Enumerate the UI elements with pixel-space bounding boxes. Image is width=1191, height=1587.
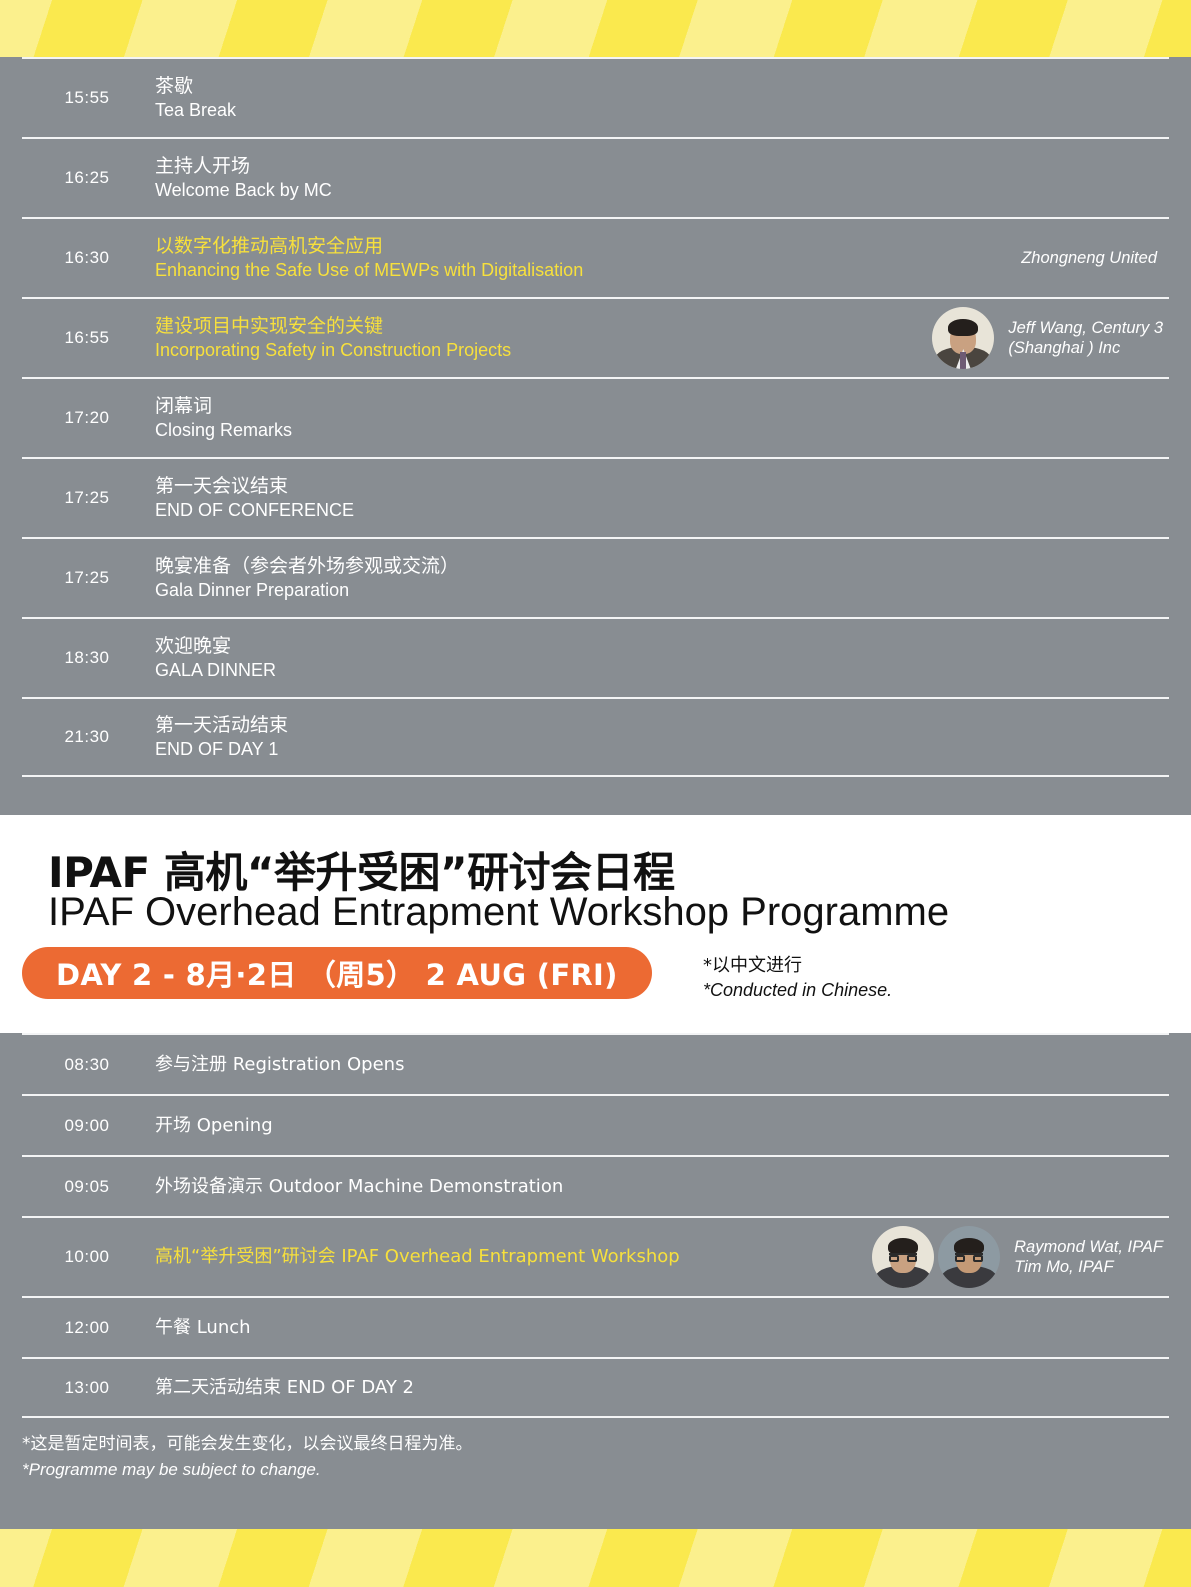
day-badge: DAY 2 - 8月·2日 （周5） 2 AUG (FRI) [22,947,652,999]
row-title: 第一天活动结束 END OF DAY 1 [152,713,1169,761]
avatar-tie [960,352,966,369]
row-time: 17:25 [22,568,152,588]
row-time: 16:25 [22,168,152,188]
row-title-cn: 主持人开场 [155,154,1169,178]
avatar [872,1226,934,1288]
row-title-cn: 建设项目中实现安全的关键 [155,314,932,338]
speaker-block: Zhongneng United [1021,249,1163,268]
language-note-cn: *以中文进行 [703,953,892,978]
row-title: 第二天活动结束 END OF DAY 2 [152,1376,1169,1400]
speaker-name-line: Raymond Wat, IPAF [1014,1237,1163,1257]
table-row: 08:30 参与注册 Registration Opens [22,1033,1169,1094]
row-time: 17:25 [22,488,152,508]
row-title: 闭幕词 Closing Remarks [152,394,1169,442]
row-title-cn: 第一天会议结束 [155,474,1169,498]
row-title-en: Enhancing the Safe Use of MEWPs with Dig… [155,258,1021,282]
table-row: 16:25 主持人开场 Welcome Back by MC [22,137,1169,217]
table-row: 09:05 外场设备演示 Outdoor Machine Demonstrati… [22,1155,1169,1216]
speaker-names: Raymond Wat, IPAF Tim Mo, IPAF [1014,1237,1163,1277]
row-title: 晚宴准备（参会者外场参观或交流） Gala Dinner Preparation [152,554,1169,602]
row-title-en: Closing Remarks [155,418,1169,442]
row-title-text: 外场设备演示 Outdoor Machine Demonstration [155,1175,1169,1199]
row-title-text: 参与注册 Registration Opens [155,1053,1169,1077]
row-title: 以数字化推动高机安全应用 Enhancing the Safe Use of M… [152,234,1021,282]
diagonal-stripes-decoration [0,0,1191,57]
table-row: 12:00 午餐 Lunch [22,1296,1169,1357]
day1-schedule-section: 15:55 茶歇 Tea Break 16:25 主持人开场 Welcome B… [0,57,1191,815]
page-title-en: IPAF Overhead Entrapment Workshop Progra… [48,890,949,935]
speaker-block: Jeff Wang, Century 3 (Shanghai ) Inc [932,307,1163,369]
row-title-en: Tea Break [155,98,1169,122]
speaker-organisation: Zhongneng United [1021,249,1157,268]
row-title-text: 午餐 Lunch [155,1316,1169,1340]
row-title-text: 高机“举升受困”研讨会 IPAF Overhead Entrapment Wor… [155,1245,872,1269]
row-time: 21:30 [22,727,152,747]
row-time: 09:05 [22,1177,152,1197]
row-title-cn: 欢迎晚宴 [155,634,1169,658]
day2-schedule-section: 08:30 参与注册 Registration Opens 09:00 开场 O… [0,1033,1191,1529]
row-title-en: Incorporating Safety in Construction Pro… [155,338,932,362]
diagonal-stripes-decoration [0,1529,1191,1587]
row-time: 10:00 [22,1247,152,1267]
speaker-photos [872,1226,1000,1288]
avatar [932,307,994,369]
row-time: 16:30 [22,248,152,268]
row-title-cn: 第一天活动结束 [155,713,1169,737]
row-title: 参与注册 Registration Opens [152,1053,1169,1077]
speaker-name-line: Tim Mo, IPAF [1014,1257,1163,1277]
row-title-cn: 茶歇 [155,74,1169,98]
programme-title-block: IPAF 高机“举升受困”研讨会日程 IPAF Overhead Entrapm… [0,815,1191,1033]
language-note-en: *Conducted in Chinese. [703,978,892,1003]
table-row: 15:55 茶歇 Tea Break [22,57,1169,137]
day1-rows: 15:55 茶歇 Tea Break 16:25 主持人开场 Welcome B… [0,57,1191,777]
row-title: 主持人开场 Welcome Back by MC [152,154,1169,202]
row-title: 第一天会议结束 END OF CONFERENCE [152,474,1169,522]
row-title-cn: 晚宴准备（参会者外场参观或交流） [155,554,1169,578]
row-title-text: 第二天活动结束 END OF DAY 2 [155,1376,1169,1400]
row-time: 18:30 [22,648,152,668]
row-time: 16:55 [22,328,152,348]
language-note: *以中文进行 *Conducted in Chinese. [703,953,892,1003]
speaker-name-line: Jeff Wang, Century 3 [1008,318,1163,338]
top-stripe-banner [0,0,1191,57]
row-time: 17:20 [22,408,152,428]
row-title: 建设项目中实现安全的关键 Incorporating Safety in Con… [152,314,932,362]
bottom-stripe-banner [0,1529,1191,1587]
row-time: 09:00 [22,1116,152,1136]
row-time: 15:55 [22,88,152,108]
table-row: 17:20 闭幕词 Closing Remarks [22,377,1169,457]
table-row: 17:25 第一天会议结束 END OF CONFERENCE [22,457,1169,537]
footnote-en: *Programme may be subject to change. [22,1457,1169,1482]
table-row: 13:00 第二天活动结束 END OF DAY 2 [22,1357,1169,1418]
row-title: 外场设备演示 Outdoor Machine Demonstration [152,1175,1169,1199]
speaker-name-line: (Shanghai ) Inc [1008,338,1163,358]
row-title-en: END OF DAY 1 [155,737,1169,761]
glasses-icon [955,1253,983,1262]
row-title-en: Gala Dinner Preparation [155,578,1169,602]
avatar-hair [948,319,978,336]
glasses-icon [889,1253,917,1262]
table-row: 18:30 欢迎晚宴 GALA DINNER [22,617,1169,697]
row-title-en: Welcome Back by MC [155,178,1169,202]
speaker-block: Raymond Wat, IPAF Tim Mo, IPAF [872,1226,1163,1288]
table-row: 16:55 建设项目中实现安全的关键 Incorporating Safety … [22,297,1169,377]
table-row: 10:00 高机“举升受困”研讨会 IPAF Overhead Entrapme… [22,1216,1169,1296]
speaker-photos [932,307,994,369]
row-time: 12:00 [22,1318,152,1338]
row-title: 高机“举升受困”研讨会 IPAF Overhead Entrapment Wor… [152,1245,872,1269]
footnote-cn: *这是暂定时间表，可能会发生变化，以会议最终日程为准。 [22,1432,1169,1457]
row-title-text: 开场 Opening [155,1114,1169,1138]
table-row: 16:30 以数字化推动高机安全应用 Enhancing the Safe Us… [22,217,1169,297]
row-title: 午餐 Lunch [152,1316,1169,1340]
row-time: 13:00 [22,1378,152,1398]
table-row: 21:30 第一天活动结束 END OF DAY 1 [22,697,1169,777]
avatar [938,1226,1000,1288]
table-row: 17:25 晚宴准备（参会者外场参观或交流） Gala Dinner Prepa… [22,537,1169,617]
row-title: 开场 Opening [152,1114,1169,1138]
row-title: 茶歇 Tea Break [152,74,1169,122]
row-title-en: GALA DINNER [155,658,1169,682]
footnote: *这是暂定时间表，可能会发生变化，以会议最终日程为准。 *Programme m… [0,1418,1191,1482]
day2-rows: 08:30 参与注册 Registration Opens 09:00 开场 O… [0,1033,1191,1418]
programme-poster: 15:55 茶歇 Tea Break 16:25 主持人开场 Welcome B… [0,0,1191,1587]
table-row: 09:00 开场 Opening [22,1094,1169,1155]
row-title-cn: 以数字化推动高机安全应用 [155,234,1021,258]
speaker-names: Jeff Wang, Century 3 (Shanghai ) Inc [1008,318,1163,358]
row-title-cn: 闭幕词 [155,394,1169,418]
row-time: 08:30 [22,1055,152,1075]
row-title: 欢迎晚宴 GALA DINNER [152,634,1169,682]
row-title-en: END OF CONFERENCE [155,498,1169,522]
